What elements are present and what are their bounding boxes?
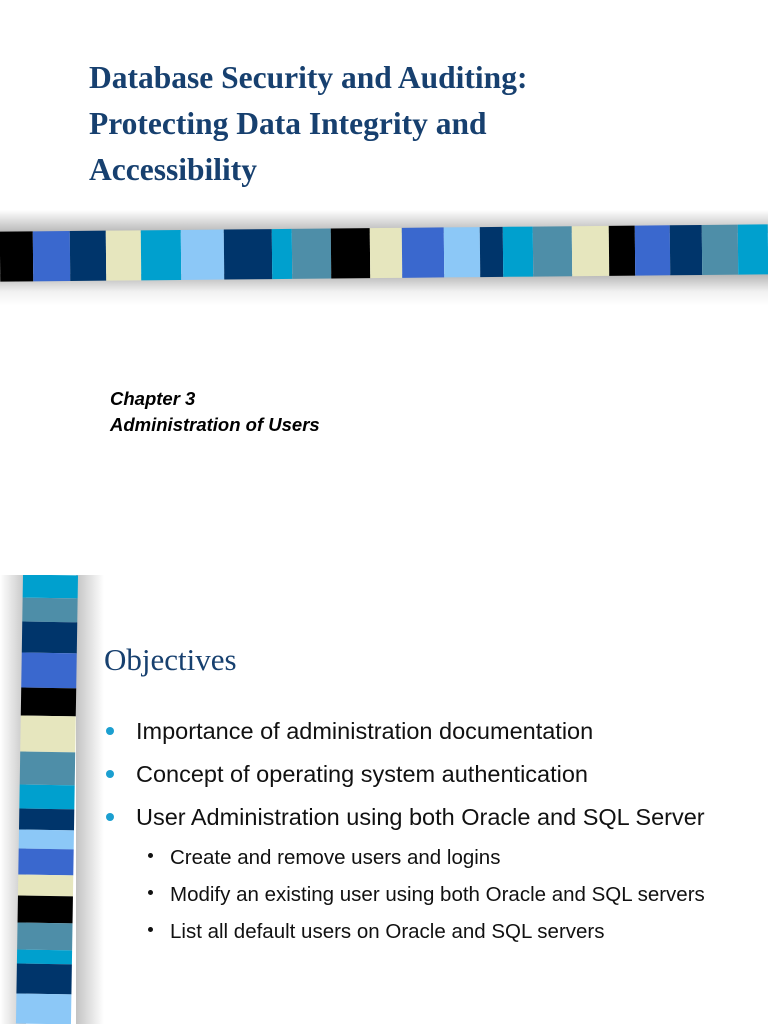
bullet-text: Importance of administration documentati… (136, 713, 744, 750)
strip-segment (22, 597, 77, 622)
bullet-text: List all default users on Oracle and SQL… (170, 916, 744, 947)
bullet-dot-icon (148, 853, 153, 858)
band-segment (141, 230, 181, 280)
strip-segment (19, 808, 74, 830)
band-segment (402, 227, 444, 277)
strip-segment (18, 875, 73, 897)
bullet-dot-icon (106, 813, 114, 821)
strip-shadow-right (76, 575, 104, 1024)
band-segment (370, 228, 403, 278)
band-segment (0, 231, 34, 281)
bullet-item: Importance of administration documentati… (104, 713, 744, 750)
page-title-line-3: Accessibility (89, 147, 689, 193)
band-segment (533, 226, 573, 276)
band-segment (670, 225, 702, 275)
page-title-line-1: Database Security and Auditing: (89, 55, 689, 101)
band-segment (609, 226, 635, 276)
strip-segment (18, 896, 73, 924)
bullet-text: Concept of operating system authenticati… (136, 756, 744, 793)
strip-segment (19, 829, 74, 849)
strip-segment (19, 784, 74, 809)
band-segment (106, 230, 141, 280)
sub-bullet-item: Create and remove users and logins (104, 842, 744, 873)
band-segment (479, 227, 503, 277)
chapter-title: Administration of Users (110, 412, 320, 438)
bullet-text: Modify an existing user using both Oracl… (170, 879, 744, 910)
vertical-decorative-strip (0, 575, 104, 1024)
horizontal-decorative-band (0, 200, 768, 306)
bullet-dot-icon (148, 890, 153, 895)
strip-segment (20, 716, 76, 753)
strip-segment (16, 963, 71, 994)
strip-segment (16, 993, 71, 1024)
sub-bullet-item: List all default users on Oracle and SQL… (104, 916, 744, 947)
band-segments (0, 224, 768, 281)
band-segment (272, 229, 292, 279)
band-segment (634, 225, 670, 275)
bullet-dot-icon (106, 770, 114, 778)
band-segment (702, 225, 738, 275)
band-segment (180, 230, 224, 280)
strip-segment (20, 752, 76, 785)
bullet-text: User Administration using both Oracle an… (136, 799, 744, 836)
bullet-dot-icon (106, 727, 114, 735)
band-segment (444, 227, 480, 277)
slide-canvas: Database Security and Auditing: Protecti… (0, 0, 768, 1024)
strip-segment (21, 687, 76, 716)
strip-segment (22, 621, 77, 653)
strip-segment (23, 575, 78, 598)
bullet-dot-icon (148, 927, 153, 932)
bullet-item: Concept of operating system authenticati… (104, 756, 744, 793)
chapter-subtitle: Chapter 3 Administration of Users (110, 386, 320, 438)
band-segment (70, 231, 106, 281)
band-segment (503, 227, 533, 277)
bullet-text: Create and remove users and logins (170, 842, 744, 873)
band-segment (572, 226, 609, 276)
band-segment (330, 228, 370, 278)
strip-segment (21, 653, 77, 688)
band-segment (224, 229, 273, 279)
bullet-item: User Administration using both Oracle an… (104, 799, 744, 836)
chapter-number: Chapter 3 (110, 386, 320, 412)
band-segment (33, 231, 70, 281)
objectives-bullet-list: Importance of administration documentati… (104, 713, 744, 953)
page-title-line-2: Protecting Data Integrity and (89, 101, 689, 147)
section-heading-objectives: Objectives (104, 641, 237, 679)
strip-segment (18, 849, 73, 875)
band-segment (292, 229, 331, 279)
band-segment (738, 224, 768, 274)
sub-bullet-item: Modify an existing user using both Oracl… (104, 879, 744, 910)
strip-segments (16, 575, 78, 1024)
page-title: Database Security and Auditing: Protecti… (89, 55, 689, 193)
strip-segment (17, 950, 72, 964)
strip-segment (17, 923, 72, 951)
